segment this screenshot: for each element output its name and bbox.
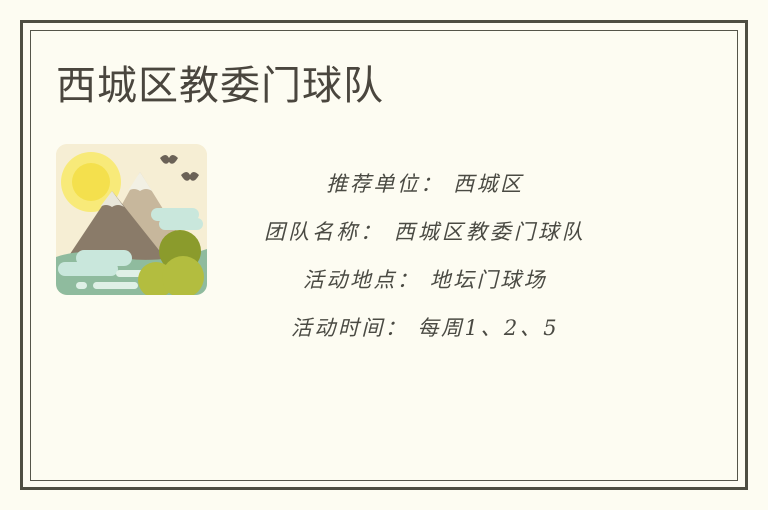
team-info-block: 推荐单位： 西城区 团队名称： 西城区教委门球队 活动地点： 地坛门球场 活动时… <box>235 160 615 352</box>
poster-card: 西城区教委门球队 <box>0 0 768 510</box>
info-line-recommending-unit: 推荐单位： 西城区 <box>235 160 615 208</box>
info-line-activity-place: 活动地点： 地坛门球场 <box>235 256 615 304</box>
info-line-team-name: 团队名称： 西城区教委门球队 <box>235 208 615 256</box>
page-title: 西城区教委门球队 <box>56 62 384 110</box>
content-row: 推荐单位： 西城区 团队名称： 西城区教委门球队 活动地点： 地坛门球场 活动时… <box>56 144 656 344</box>
landscape-illustration-icon <box>56 144 207 295</box>
info-line-activity-time: 活动时间： 每周1、2、5 <box>235 304 615 352</box>
